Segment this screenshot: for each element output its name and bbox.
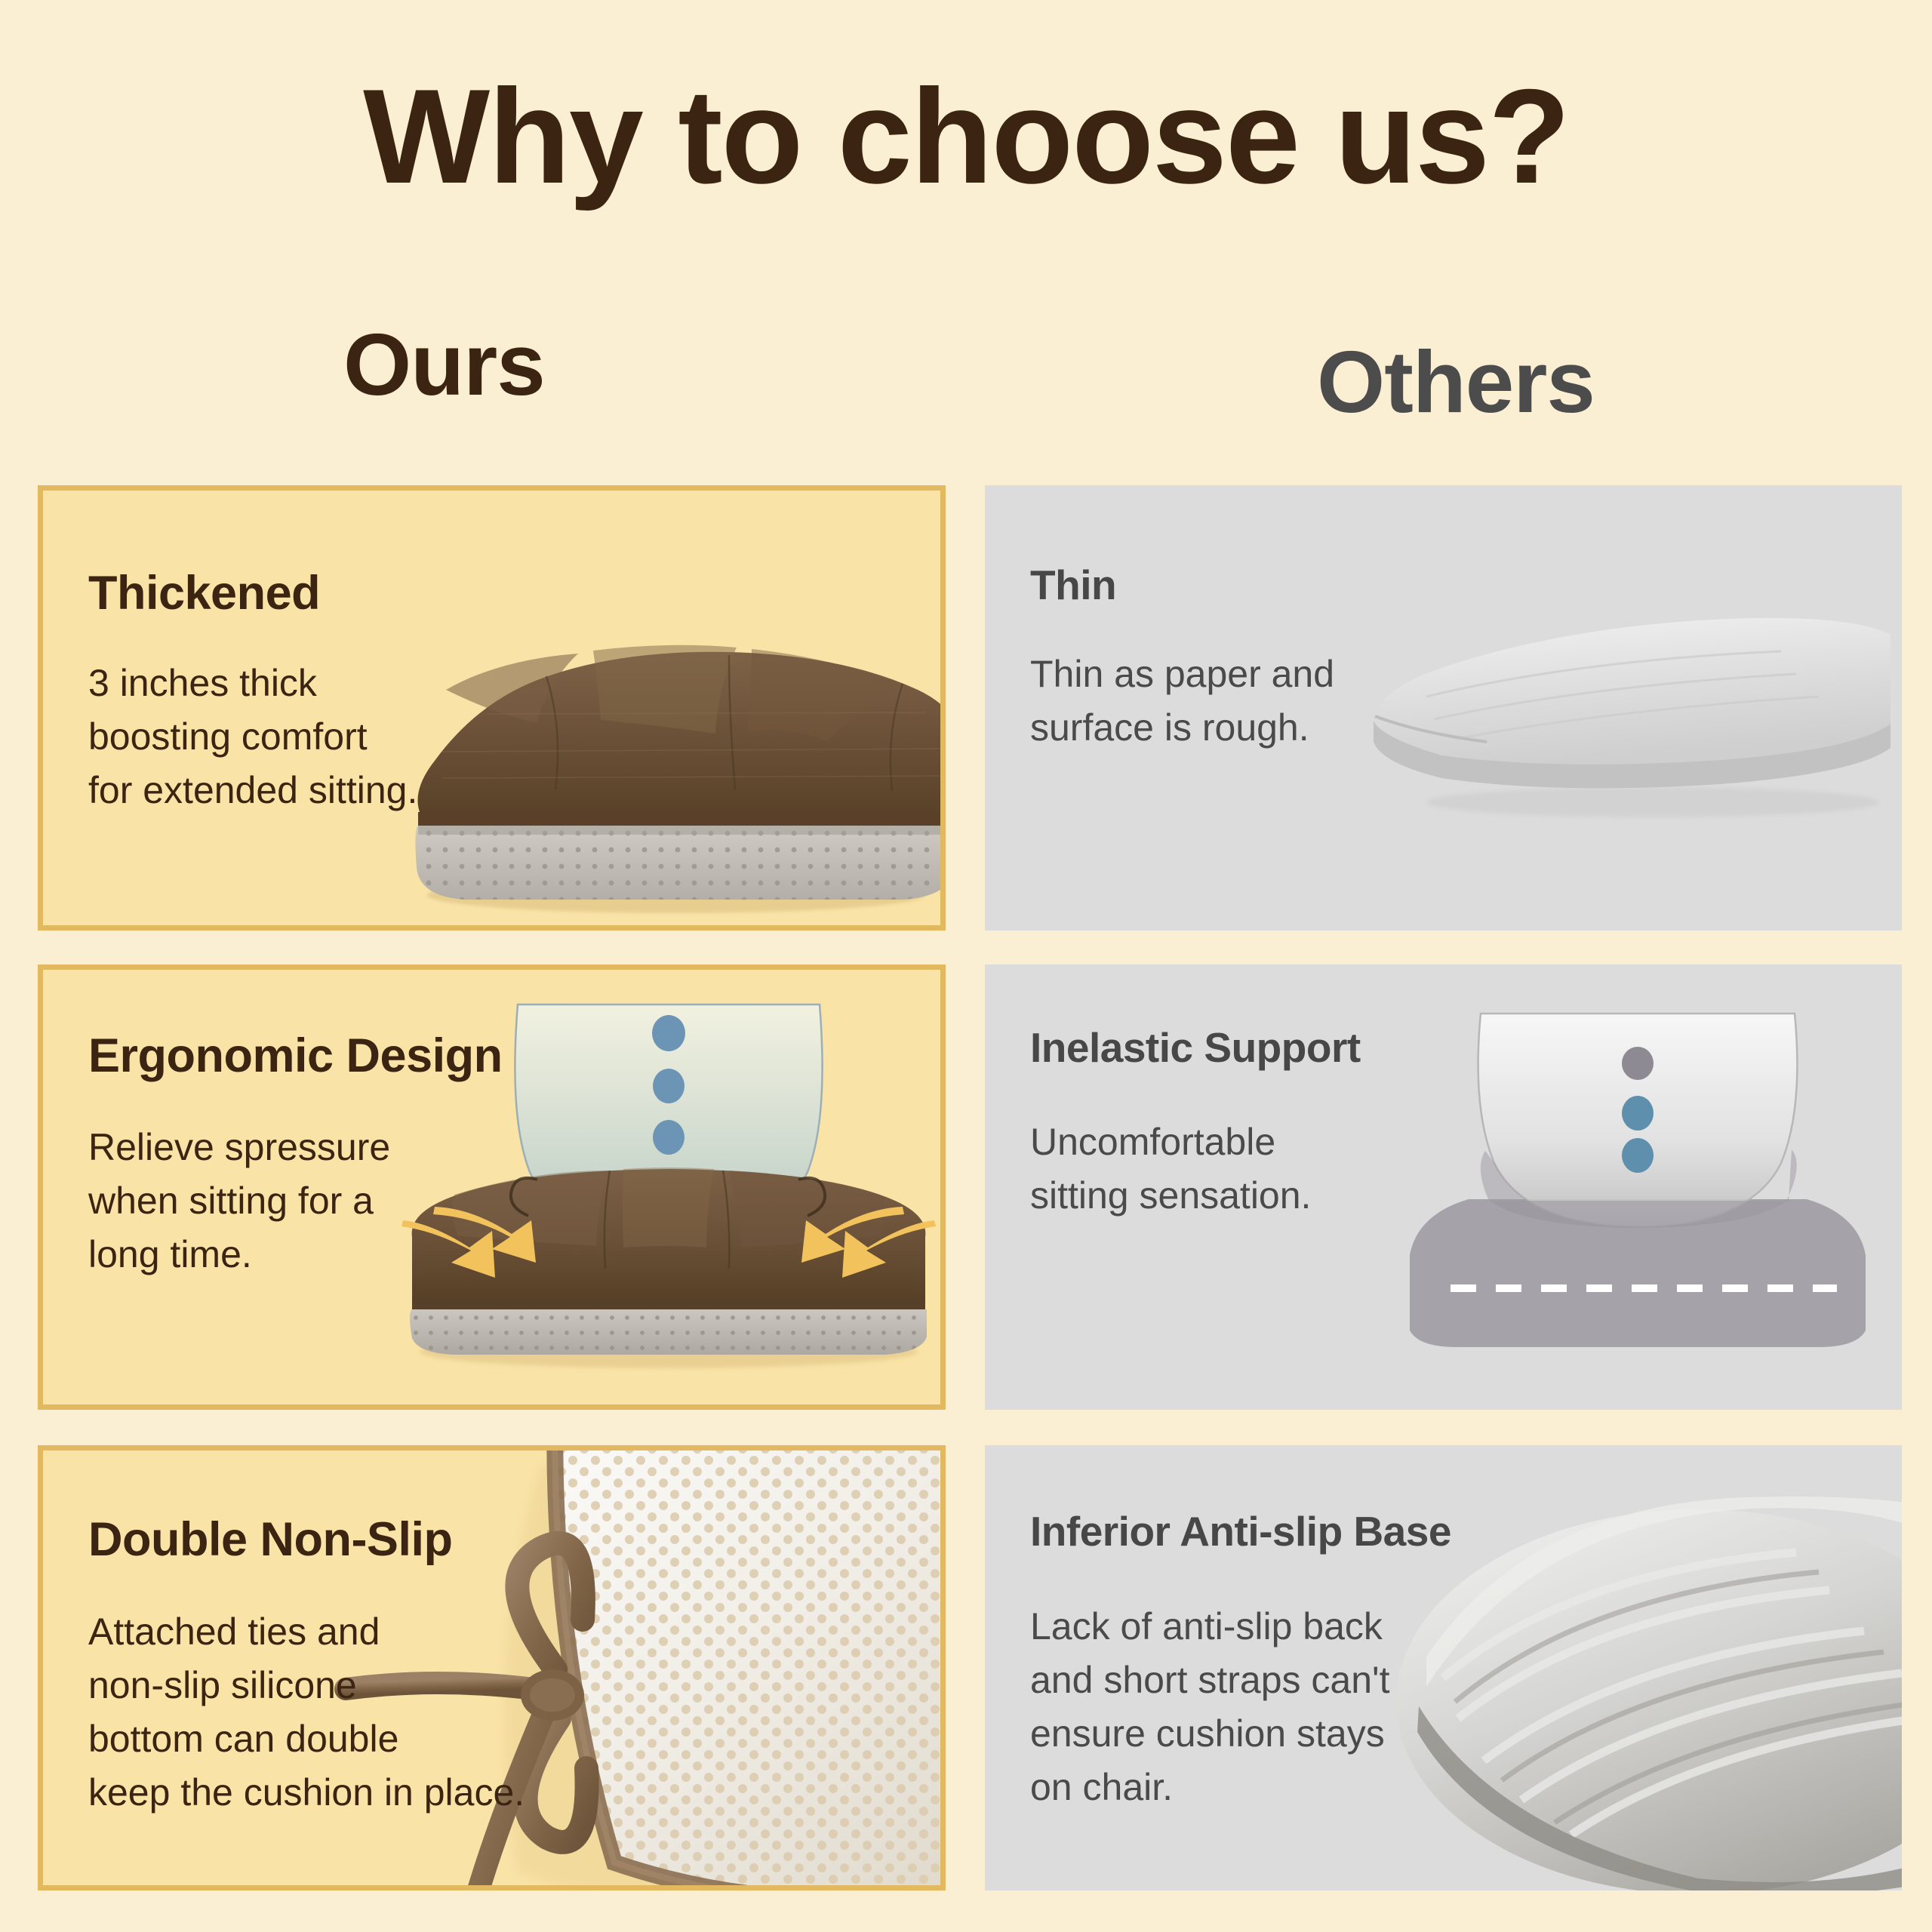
comparison-grid: Thickened 3 inches thick boosting comfor…: [38, 485, 1902, 1893]
round-grey-cushion-image: [1374, 1475, 1902, 1890]
flat-cushion: [1410, 1199, 1866, 1347]
body-silhouette: [515, 1004, 822, 1240]
comparison-row: Ergonomic Design Relieve spressure when …: [38, 964, 1902, 1410]
ours-card-ergonomic: Ergonomic Design Relieve spressure when …: [38, 964, 946, 1410]
card-description: Lack of anti-slip back and short straps …: [1030, 1600, 1389, 1814]
card-title: Double Non-Slip: [88, 1512, 452, 1567]
comparison-row: Double Non-Slip Attached ties and non-sl…: [38, 1445, 1902, 1890]
card-description: Thin as paper and surface is rough.: [1030, 648, 1334, 755]
card-title: Ergonomic Design: [88, 1029, 503, 1083]
infographic-page: Why to choose us? Ours Others: [0, 0, 1932, 1932]
column-heading-others: Others: [1317, 338, 1595, 426]
card-description: Attached ties and non-slip silicone bott…: [88, 1605, 525, 1820]
body-silhouette: [1478, 1014, 1798, 1226]
thin-pad-image: [1328, 576, 1902, 855]
card-description: Relieve spressure when sitting for a lon…: [88, 1121, 390, 1281]
others-card-inferior-base: Inferior Anti-slip Base Lack of anti-sli…: [985, 1445, 1902, 1890]
ours-card-thickened: Thickened 3 inches thick boosting comfor…: [38, 485, 946, 931]
silicone-base: [555, 1445, 946, 1890]
others-card-thin: Thin Thin as paper and surface is rough.: [985, 485, 1902, 931]
card-description: 3 inches thick boosting comfort for exte…: [88, 657, 417, 817]
round-cushion: [1396, 1509, 1902, 1890]
thick-cushion-image: [374, 563, 946, 918]
card-description: Uncomfortable sitting sensation.: [1030, 1115, 1311, 1223]
page-title: Why to choose us?: [0, 66, 1932, 208]
others-card-inelastic: Inelastic Support Uncomfortable sitting …: [985, 964, 1902, 1410]
comparison-row: Thickened 3 inches thick boosting comfor…: [38, 485, 1902, 931]
tie-bow: [517, 1543, 586, 1842]
card-title: Thickened: [88, 566, 320, 620]
pressure-dots: [1622, 1047, 1654, 1173]
tie-knot: [521, 1669, 584, 1721]
ours-card-double-non-slip: Double Non-Slip Attached ties and non-sl…: [38, 1445, 946, 1890]
inelastic-cushion-image: [1396, 1006, 1879, 1368]
card-title: Inelastic Support: [1030, 1023, 1361, 1072]
card-title: Thin: [1030, 561, 1116, 609]
pressure-dots: [652, 1015, 685, 1155]
card-title: Inferior Anti-slip Base: [1030, 1507, 1451, 1555]
pressure-arrows: [401, 1207, 936, 1278]
column-heading-ours: Ours: [343, 321, 545, 408]
